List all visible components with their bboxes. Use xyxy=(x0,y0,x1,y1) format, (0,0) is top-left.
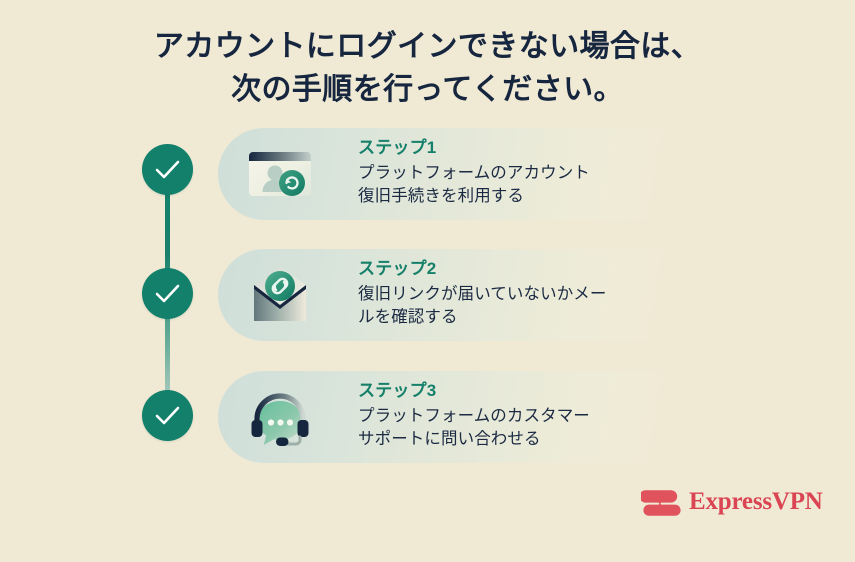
id-card-recovery-icon xyxy=(244,138,316,210)
step-card-2: ステップ2 復旧リンクが届いていないかメー ルを確認する xyxy=(218,249,718,341)
infographic-poster: アカウントにログインできない場合は、 次の手順を行ってください。 xyxy=(0,0,855,562)
step-card-2-text: ステップ2 復旧リンクが届いていないかメー ルを確認する xyxy=(358,258,688,330)
step-3-description: プラットフォームのカスタマー サポートに問い合わせる xyxy=(358,405,688,452)
timeline-node-step-1 xyxy=(142,144,193,195)
page-title: アカウントにログインできない場合は、 次の手順を行ってください。 xyxy=(0,26,855,111)
step-3-heading: ステップ3 xyxy=(358,380,688,403)
step-card-1-text: ステップ1 プラットフォームのアカウント 復旧手続きを利用する xyxy=(358,137,688,209)
timeline-node-step-3 xyxy=(142,390,193,441)
page-title-line-1: アカウントにログインできない場合は、 xyxy=(0,26,855,69)
check-icon xyxy=(154,282,181,305)
step-1-description: プラットフォームのアカウント 復旧手続きを利用する xyxy=(358,162,688,209)
expressvpn-e-mark-icon xyxy=(641,487,683,521)
page-title-line-2: 次の手順を行ってください。 xyxy=(0,69,855,112)
expressvpn-logo: ExpressVPN xyxy=(641,482,791,526)
step-2-heading: ステップ2 xyxy=(358,258,688,281)
step-card-1: ステップ1 プラットフォームのアカウント 復旧手続きを利用する xyxy=(218,128,718,220)
steps-timeline xyxy=(142,140,194,460)
step-2-description: 復旧リンクが届いていないかメー ルを確認する xyxy=(358,283,688,330)
envelope-link-icon xyxy=(244,259,316,331)
step-1-heading: ステップ1 xyxy=(358,137,688,160)
step-card-3: ステップ3 プラットフォームのカスタマー サポートに問い合わせる xyxy=(218,371,718,463)
headset-chat-icon xyxy=(244,381,316,453)
timeline-node-step-2 xyxy=(142,268,193,319)
step-card-3-text: ステップ3 プラットフォームのカスタマー サポートに問い合わせる xyxy=(358,380,688,452)
check-icon xyxy=(154,158,181,181)
check-icon xyxy=(154,404,181,427)
expressvpn-wordmark: ExpressVPN xyxy=(689,489,823,514)
